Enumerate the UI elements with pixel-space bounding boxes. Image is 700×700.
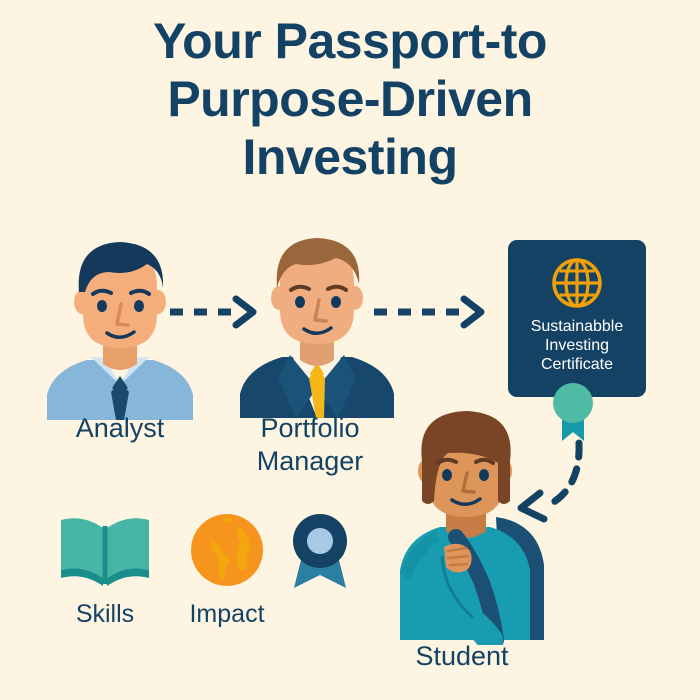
student-label: Student [362, 640, 562, 673]
title-line-2: Purpose-Driven [0, 70, 700, 128]
infographic-canvas: Your Passport-to Purpose-Driven Investin… [0, 0, 700, 700]
arrow-manager-to-certificate [372, 295, 492, 334]
globe-icon [189, 512, 265, 588]
student-figure [378, 405, 558, 645]
title-line-1: Your Passport-to [0, 12, 700, 70]
open-book-icon [57, 512, 153, 590]
award-ribbon-icon-group [289, 512, 351, 595]
certificate-line-1: Sustainabble [508, 317, 646, 336]
certificate-text: Sustainabble Investing Certificate [508, 317, 646, 374]
impact-label: Impact [157, 600, 297, 629]
certificate-line-3: Certificate [508, 355, 646, 374]
skills-icon-group [57, 512, 153, 595]
title-line-3: Investing [0, 128, 700, 186]
award-ribbon-icon [289, 512, 351, 590]
certificate-card[interactable]: Sustainabble Investing Certificate [508, 240, 646, 397]
impact-icon-group [189, 512, 265, 593]
skills-label-text: Skills [76, 600, 134, 628]
analyst-label: Analyst [20, 412, 220, 445]
student-label-text: Student [415, 641, 508, 671]
globe-icon [549, 255, 605, 311]
impact-label-text: Impact [189, 600, 264, 628]
skills-label: Skills [35, 600, 175, 629]
analyst-label-text: Analyst [76, 413, 165, 443]
certificate-line-2: Investing [508, 336, 646, 355]
page-title: Your Passport-to Purpose-Driven Investin… [0, 12, 700, 186]
